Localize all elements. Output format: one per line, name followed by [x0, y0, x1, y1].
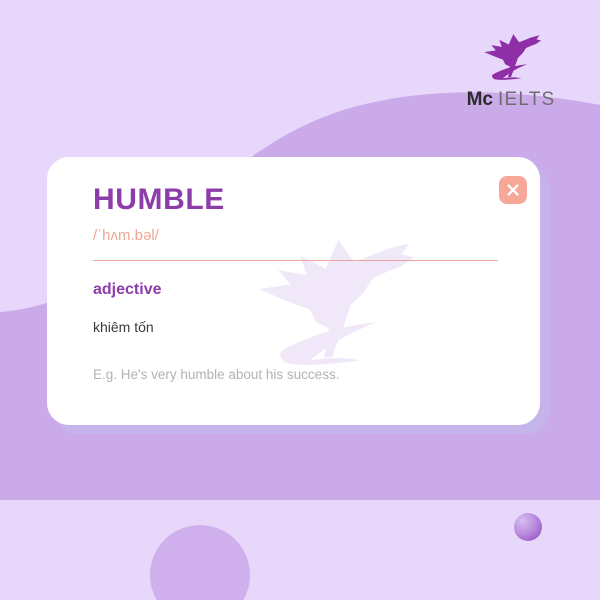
- flashcard-screen: McIELTS HUMBLE /ˈhʌm.bəl/ adjective khiê…: [0, 0, 600, 600]
- brand-name-light: IELTS: [498, 89, 555, 110]
- brand-name: McIELTS: [467, 90, 556, 109]
- card-divider: [93, 260, 498, 261]
- close-button[interactable]: [499, 176, 527, 204]
- hummingbird-icon: [475, 26, 547, 84]
- part-of-speech: adjective: [93, 282, 496, 298]
- word-meaning: khiêm tốn: [93, 320, 496, 334]
- gradient-sphere: [514, 513, 542, 541]
- word-phonetic: /ˈhʌm.bəl/: [93, 228, 496, 243]
- word-example: E.g. He's very humble about his success.: [93, 368, 496, 382]
- word-card: HUMBLE /ˈhʌm.bəl/ adjective khiêm tốn E.…: [47, 157, 540, 425]
- card-content: HUMBLE /ˈhʌm.bəl/ adjective khiêm tốn E.…: [47, 157, 540, 425]
- background-circle: [150, 525, 250, 600]
- brand-name-bold: Mc: [467, 89, 493, 110]
- word-title: HUMBLE: [93, 185, 496, 215]
- brand-logo: McIELTS: [456, 26, 566, 109]
- close-icon: [506, 183, 520, 197]
